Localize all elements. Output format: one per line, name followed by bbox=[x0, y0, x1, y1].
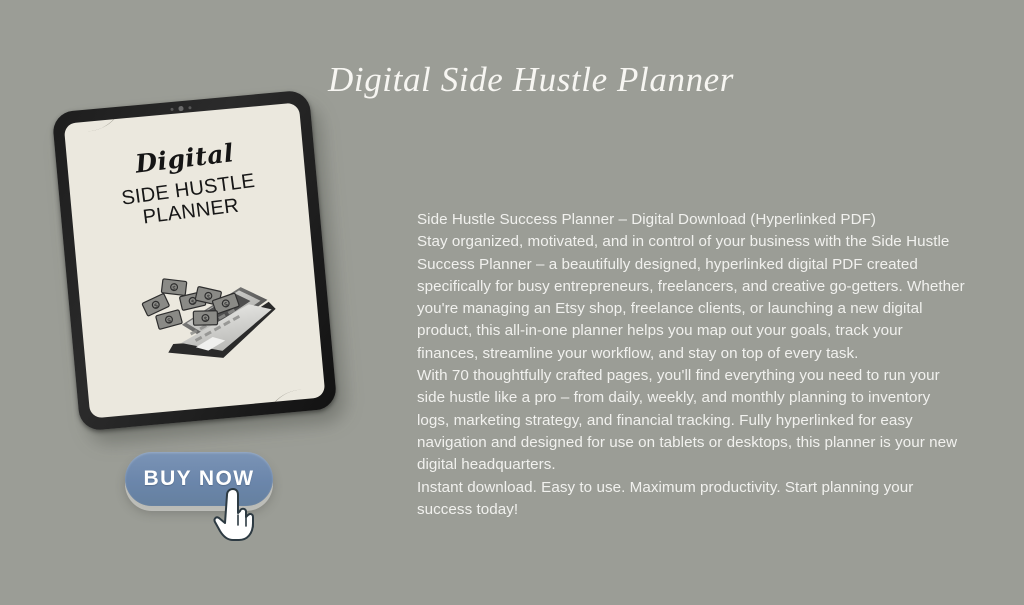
description-paragraph: With 70 thoughtfully crafted pages, you'… bbox=[417, 365, 965, 476]
page-title: Digital Side Hustle Planner bbox=[328, 58, 708, 102]
corner-flourish-decoration bbox=[64, 102, 128, 133]
sensor-dot-icon bbox=[170, 108, 173, 111]
description-paragraph: Stay organized, motivated, and in contro… bbox=[417, 231, 965, 365]
description-paragraph: Side Hustle Success Planner – Digital Do… bbox=[417, 209, 965, 231]
product-tablet-mockup: Digital SIDE HUSTLE PLANNER bbox=[52, 89, 349, 442]
sensor-dot-icon bbox=[188, 106, 191, 109]
tablet-screen: Digital SIDE HUSTLE PLANNER bbox=[64, 102, 326, 418]
planner-cover-title-block: Digital SIDE HUSTLE PLANNER bbox=[66, 131, 309, 236]
product-description: Side Hustle Success Planner – Digital Do… bbox=[417, 209, 965, 521]
buy-now-button[interactable]: BUY NOW bbox=[125, 452, 273, 506]
product-listing-page: Digital Side Hustle Planner Digital SIDE… bbox=[0, 0, 1024, 605]
front-camera-icon bbox=[178, 106, 183, 111]
description-paragraph: Instant download. Easy to use. Maximum p… bbox=[417, 477, 965, 522]
tablet-sensor-cluster bbox=[170, 105, 191, 111]
laptop-with-flying-money-icon: $ $ $ bbox=[118, 238, 294, 397]
tablet-bezel: Digital SIDE HUSTLE PLANNER bbox=[52, 89, 338, 431]
